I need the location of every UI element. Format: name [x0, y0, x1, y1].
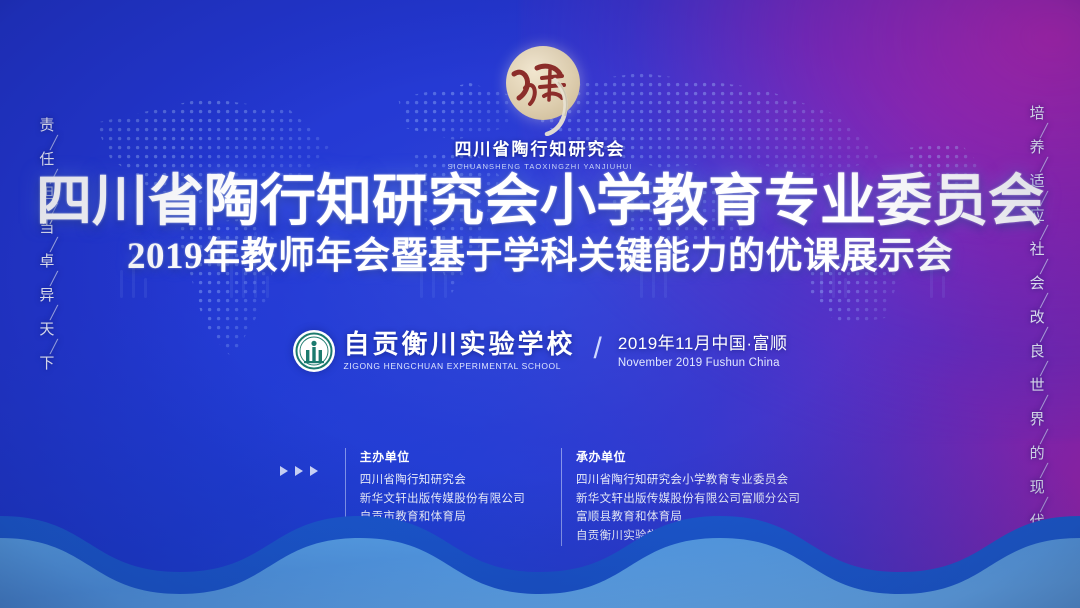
- conference-banner: 责 ╱ 任 ╱ 担 ╱ 当 ╱ 卓 ╱ 异 ╱ 天 ╱ 下 培 ╱ 养 ╱ 适 …: [0, 0, 1080, 608]
- background-vignette: [0, 0, 1080, 608]
